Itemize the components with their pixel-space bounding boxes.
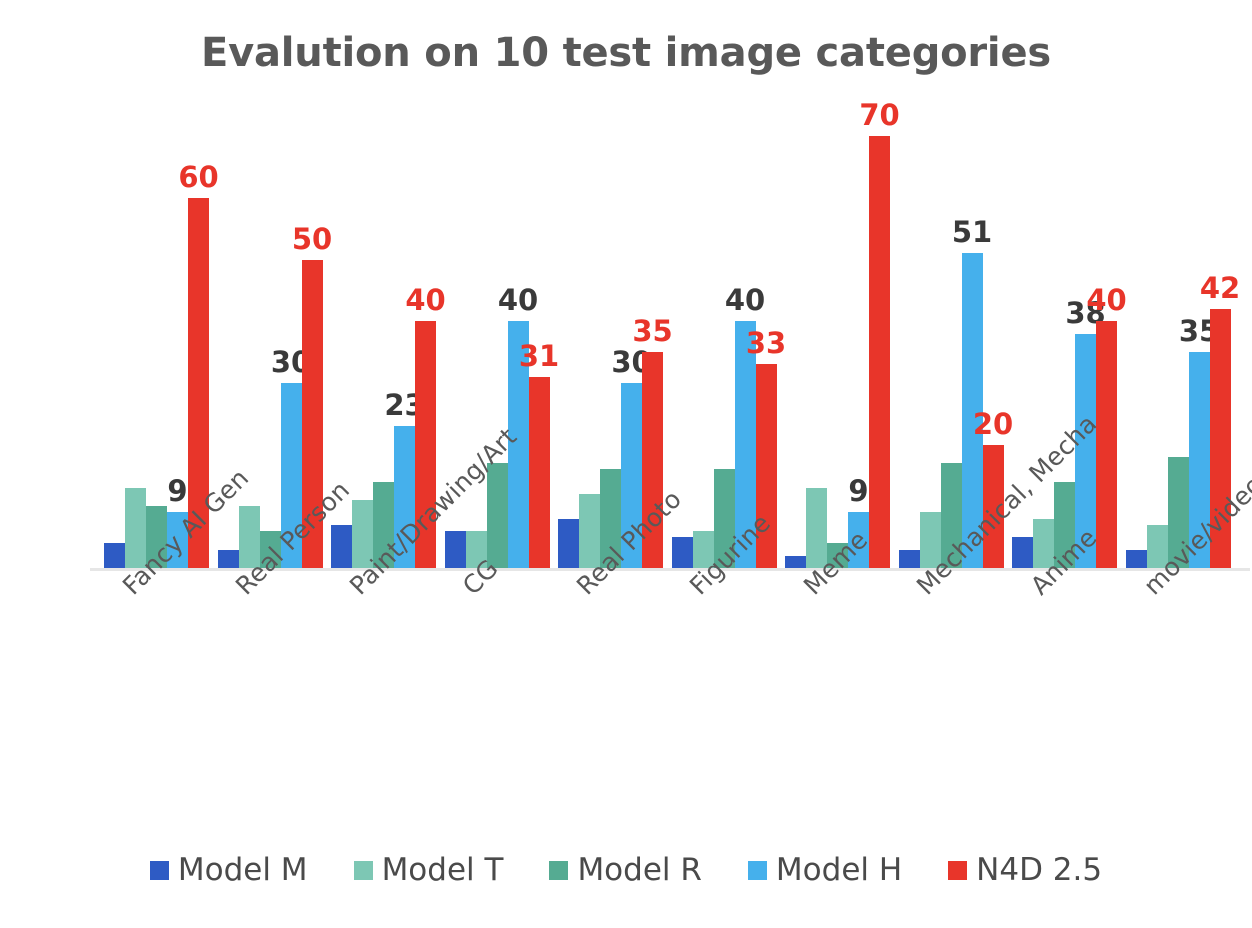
bar-model-t[interactable] — [352, 500, 373, 568]
bar-model-m[interactable] — [1126, 550, 1147, 569]
legend-swatch-icon — [549, 861, 568, 880]
bar-model-r[interactable] — [941, 463, 962, 568]
bar-model-r[interactable] — [146, 506, 167, 568]
chart-title: Evalution on 10 test image categories — [0, 30, 1252, 76]
legend-swatch-icon — [948, 861, 967, 880]
bar-model-h[interactable] — [1075, 334, 1096, 568]
bar-chart: Evalution on 10 test image categories 96… — [0, 0, 1252, 928]
bar-value-label: 40 — [725, 286, 765, 315]
bar-model-t[interactable] — [125, 488, 146, 568]
bar-model-r[interactable] — [487, 463, 508, 568]
bar-value-label: 40 — [405, 286, 445, 315]
x-axis-line — [90, 568, 1250, 571]
bar-group: 3050 — [218, 95, 323, 568]
bar-group: 3840 — [1012, 95, 1117, 568]
bar-value-label: 40 — [498, 286, 538, 315]
bar-model-m[interactable] — [785, 556, 806, 568]
bar-model-m[interactable] — [218, 550, 239, 569]
bar-model-m[interactable] — [1012, 537, 1033, 568]
bar-model-h[interactable] — [1189, 352, 1210, 568]
bar-model-m[interactable] — [899, 550, 920, 569]
bar-model-r[interactable] — [260, 531, 281, 568]
bar-n4d-2-5[interactable] — [983, 445, 1004, 568]
bar-value-label: 35 — [632, 317, 672, 346]
bar-model-t[interactable] — [466, 531, 487, 568]
bar-group: 970 — [785, 95, 890, 568]
legend-item-model-h[interactable]: Model H — [748, 855, 902, 886]
legend-item-model-m[interactable]: Model M — [150, 855, 308, 886]
bar-model-r[interactable] — [714, 469, 735, 568]
legend-label: Model T — [382, 855, 504, 886]
bar-model-t[interactable] — [579, 494, 600, 568]
bar-group: 4031 — [445, 95, 550, 568]
bar-value-label: 42 — [1200, 274, 1240, 303]
bar-model-r[interactable] — [827, 543, 848, 568]
bar-n4d-2-5[interactable] — [415, 321, 436, 568]
bar-model-h[interactable] — [394, 426, 415, 568]
bar-n4d-2-5[interactable] — [756, 364, 777, 568]
bar-model-r[interactable] — [1054, 482, 1075, 568]
bar-model-r[interactable] — [373, 482, 394, 568]
bar-model-t[interactable] — [920, 512, 941, 568]
legend-label: Model M — [178, 855, 308, 886]
bar-group: 3035 — [558, 95, 663, 568]
legend-swatch-icon — [354, 861, 373, 880]
bar-model-m[interactable] — [558, 519, 579, 568]
bar-group: 5120 — [899, 95, 1004, 568]
bar-model-t[interactable] — [239, 506, 260, 568]
bar-model-h[interactable] — [848, 512, 869, 568]
legend-label: Model H — [776, 855, 902, 886]
bar-group: 960 — [104, 95, 209, 568]
bar-n4d-2-5[interactable] — [302, 260, 323, 569]
bar-n4d-2-5[interactable] — [1210, 309, 1231, 568]
bar-n4d-2-5[interactable] — [869, 136, 890, 568]
bar-group: 3542 — [1126, 95, 1231, 568]
legend-item-n4d-2-5[interactable]: N4D 2.5 — [948, 855, 1102, 886]
bar-model-m[interactable] — [104, 543, 125, 568]
legend-swatch-icon — [748, 861, 767, 880]
bar-value-label: 50 — [292, 225, 332, 254]
bar-model-t[interactable] — [1033, 519, 1054, 568]
legend-item-model-t[interactable]: Model T — [354, 855, 504, 886]
bar-model-m[interactable] — [445, 531, 466, 568]
chart-legend: Model MModel TModel RModel HN4D 2.5 — [0, 855, 1252, 886]
bar-model-m[interactable] — [331, 525, 352, 568]
bar-model-m[interactable] — [672, 537, 693, 568]
bar-group: 4033 — [672, 95, 777, 568]
bar-value-label: 70 — [859, 101, 899, 130]
bar-value-label: 20 — [973, 410, 1013, 439]
bar-n4d-2-5[interactable] — [188, 198, 209, 568]
bar-value-label: 31 — [519, 342, 559, 371]
bar-model-h[interactable] — [281, 383, 302, 568]
bar-model-h[interactable] — [167, 512, 188, 568]
bar-n4d-2-5[interactable] — [1096, 321, 1117, 568]
bar-value-label: 51 — [952, 218, 992, 247]
bar-group: 2340 — [331, 95, 436, 568]
bar-value-label: 33 — [746, 329, 786, 358]
bar-value-label: 9 — [167, 477, 187, 506]
bar-model-t[interactable] — [1147, 525, 1168, 568]
bar-n4d-2-5[interactable] — [642, 352, 663, 568]
bar-value-label: 40 — [1086, 286, 1126, 315]
bar-n4d-2-5[interactable] — [529, 377, 550, 568]
legend-label: N4D 2.5 — [976, 855, 1102, 886]
bar-model-t[interactable] — [806, 488, 827, 568]
bar-value-label: 9 — [848, 477, 868, 506]
legend-swatch-icon — [150, 861, 169, 880]
legend-label: Model R — [577, 855, 701, 886]
plot-area: 96030502340403130354033970512038403542 — [96, 95, 1246, 568]
bar-model-t[interactable] — [693, 531, 714, 568]
bar-model-r[interactable] — [1168, 457, 1189, 568]
bar-model-r[interactable] — [600, 469, 621, 568]
legend-item-model-r[interactable]: Model R — [549, 855, 701, 886]
bar-model-h[interactable] — [621, 383, 642, 568]
bar-value-label: 60 — [178, 163, 218, 192]
